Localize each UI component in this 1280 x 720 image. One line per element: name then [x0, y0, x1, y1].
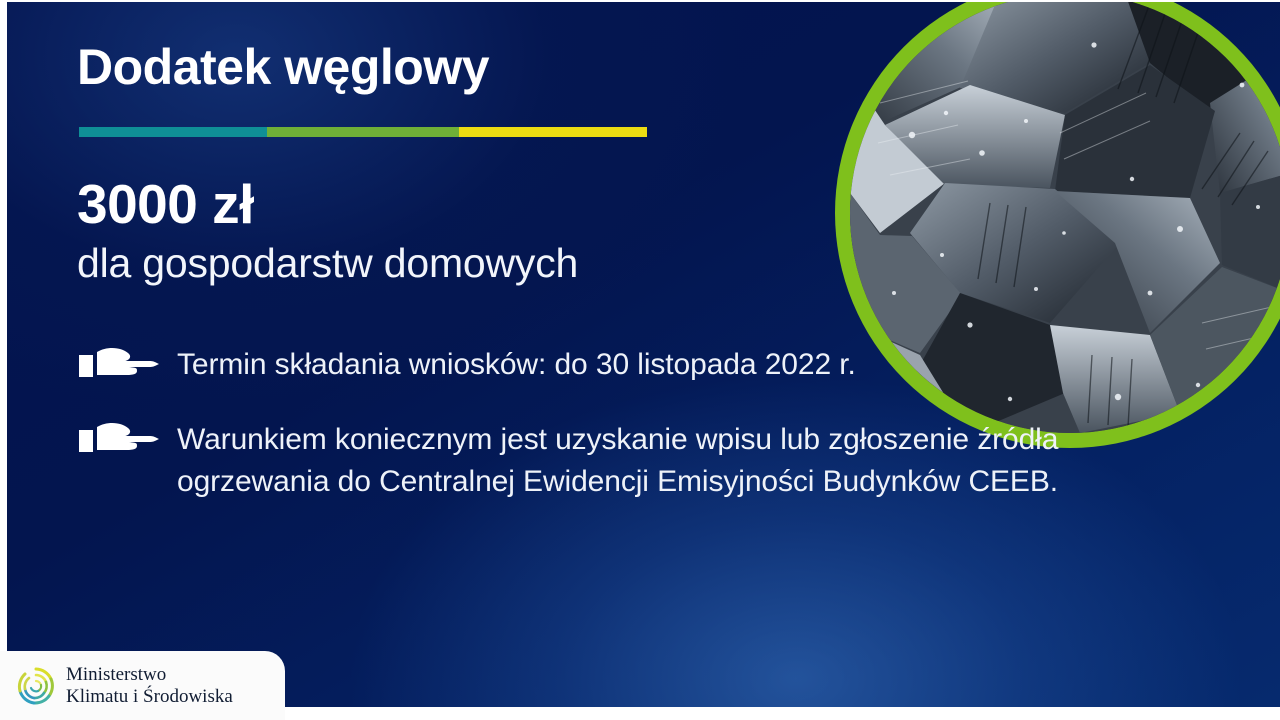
ministry-logo-line-2: Klimatu i Środowiska — [66, 686, 233, 707]
page-title: Dodatek węglowy — [77, 38, 489, 96]
left-white-margin — [0, 0, 7, 720]
list-item: Termin składania wniosków: do 30 listopa… — [77, 344, 1117, 387]
divider-segment-teal — [79, 127, 267, 137]
bullet-list: Termin składania wniosków: do 30 listopa… — [77, 344, 1117, 536]
ministry-logo-plate: Ministerstwo Klimatu i Środowiska — [0, 651, 285, 720]
tricolor-divider — [79, 127, 647, 137]
divider-segment-green — [267, 127, 459, 137]
list-item: Warunkiem koniecznym jest uzyskanie wpis… — [77, 419, 1117, 504]
slide-root: Dodatek węglowy 3000 zł dla gospodarstw … — [0, 0, 1280, 720]
list-item-label: Termin składania wniosków: do 30 listopa… — [177, 344, 1007, 387]
pointing-hand-icon — [77, 344, 177, 386]
amount-subtitle: dla gospodarstw domowych — [77, 240, 578, 287]
ministry-swirl-logo-icon — [14, 664, 58, 708]
top-white-margin — [0, 0, 1280, 2]
list-item-label: Warunkiem koniecznym jest uzyskanie wpis… — [177, 419, 1077, 504]
ministry-logo-line-1: Ministerstwo — [66, 664, 233, 685]
amount-value: 3000 zł — [77, 172, 254, 236]
ministry-logo-text: Ministerstwo Klimatu i Środowiska — [66, 664, 233, 707]
pointing-hand-icon — [77, 419, 177, 461]
slide-content-panel: Dodatek węglowy 3000 zł dla gospodarstw … — [7, 0, 1280, 707]
divider-segment-yellow — [459, 127, 647, 137]
